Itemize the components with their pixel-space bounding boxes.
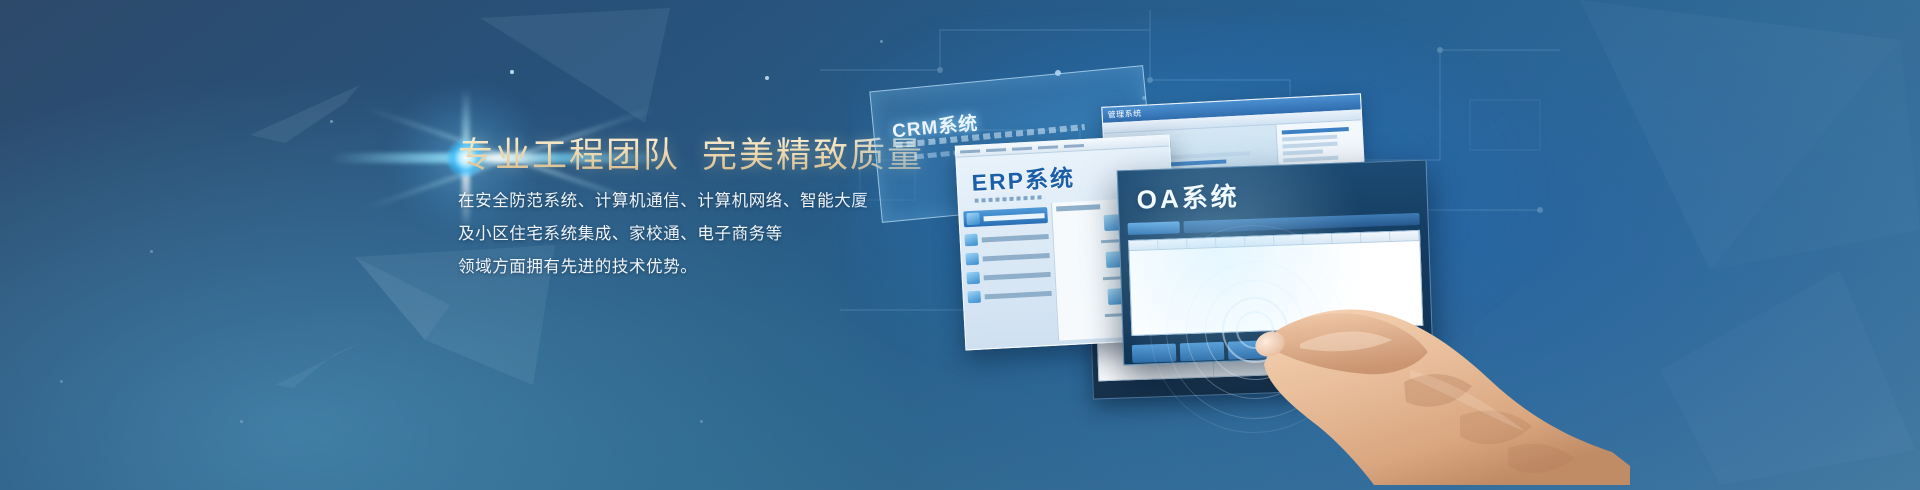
taskbar-button[interactable]	[1180, 342, 1225, 362]
monitor-icon	[965, 253, 979, 266]
sidebar-item[interactable]	[964, 230, 1049, 246]
column-header	[1158, 239, 1187, 249]
sidebar-item-label	[984, 271, 1051, 279]
datagrid-header-row	[1129, 231, 1419, 251]
window-oa[interactable]: OA系统	[1117, 160, 1434, 366]
headline-part-1: 专业工程团队	[458, 136, 680, 175]
column-header	[1274, 235, 1303, 245]
sidebar-item[interactable]	[967, 287, 1052, 303]
sidebar-item-label	[985, 290, 1052, 298]
column-header	[1303, 234, 1332, 244]
menu-item[interactable]	[960, 149, 980, 153]
column-header	[1245, 236, 1274, 246]
column-header	[1129, 240, 1158, 250]
users-icon	[966, 272, 980, 285]
ribbon-button[interactable]	[1128, 221, 1180, 235]
taskbar-badge-cyan[interactable]	[1310, 336, 1341, 359]
column-header	[1390, 231, 1419, 241]
tree-item	[1283, 156, 1338, 163]
wrench-icon	[964, 234, 978, 247]
ribbon-filter-bar[interactable]	[1184, 213, 1420, 233]
speck	[60, 380, 63, 383]
speck	[510, 70, 514, 74]
sidebar-item[interactable]	[965, 249, 1050, 265]
speck	[330, 120, 333, 123]
menu-item[interactable]	[1038, 145, 1058, 149]
taskbar-badge-orange[interactable]	[1276, 337, 1307, 360]
tree-item	[1283, 149, 1323, 155]
sidebar-item-label	[983, 213, 1044, 221]
window-erp-sidebar[interactable]	[959, 203, 1058, 346]
sidebar-item-label	[982, 233, 1049, 241]
taskbar-button[interactable]	[1132, 344, 1177, 364]
column-header	[1332, 233, 1361, 243]
column-header	[1216, 237, 1245, 247]
window-oa-datagrid	[1128, 230, 1423, 336]
polygon-decoration-4	[275, 340, 375, 390]
polygon-decoration-1	[470, 8, 680, 128]
pane-heading	[1056, 204, 1100, 211]
column-header	[1361, 232, 1390, 242]
speck	[700, 420, 703, 423]
speck	[240, 420, 243, 423]
sidebar-item-selected[interactable]	[963, 207, 1048, 227]
column-header	[1187, 238, 1216, 248]
tree-item	[1282, 127, 1349, 135]
speck	[150, 250, 153, 253]
sidebar-item-label	[983, 252, 1050, 260]
tree-item	[1282, 142, 1337, 149]
tree-item	[1282, 135, 1337, 142]
software-screens-collage: CRM系统 管理系统	[760, 0, 1920, 490]
module-icon	[966, 213, 980, 226]
taskbar-button[interactable]	[1228, 340, 1273, 360]
gear-icon	[967, 291, 981, 304]
hero-banner: 专业工程团队完美精致质量 在安全防范系统、计算机通信、计算机网络、智能大厦 及小…	[0, 0, 1920, 490]
polygon-decoration-2	[250, 85, 370, 145]
window-oa-title: OA系统	[1118, 161, 1427, 218]
menu-item[interactable]	[1012, 146, 1032, 150]
menu-item[interactable]	[1064, 144, 1084, 148]
sidebar-item[interactable]	[966, 268, 1051, 284]
menu-item[interactable]	[986, 148, 1006, 152]
